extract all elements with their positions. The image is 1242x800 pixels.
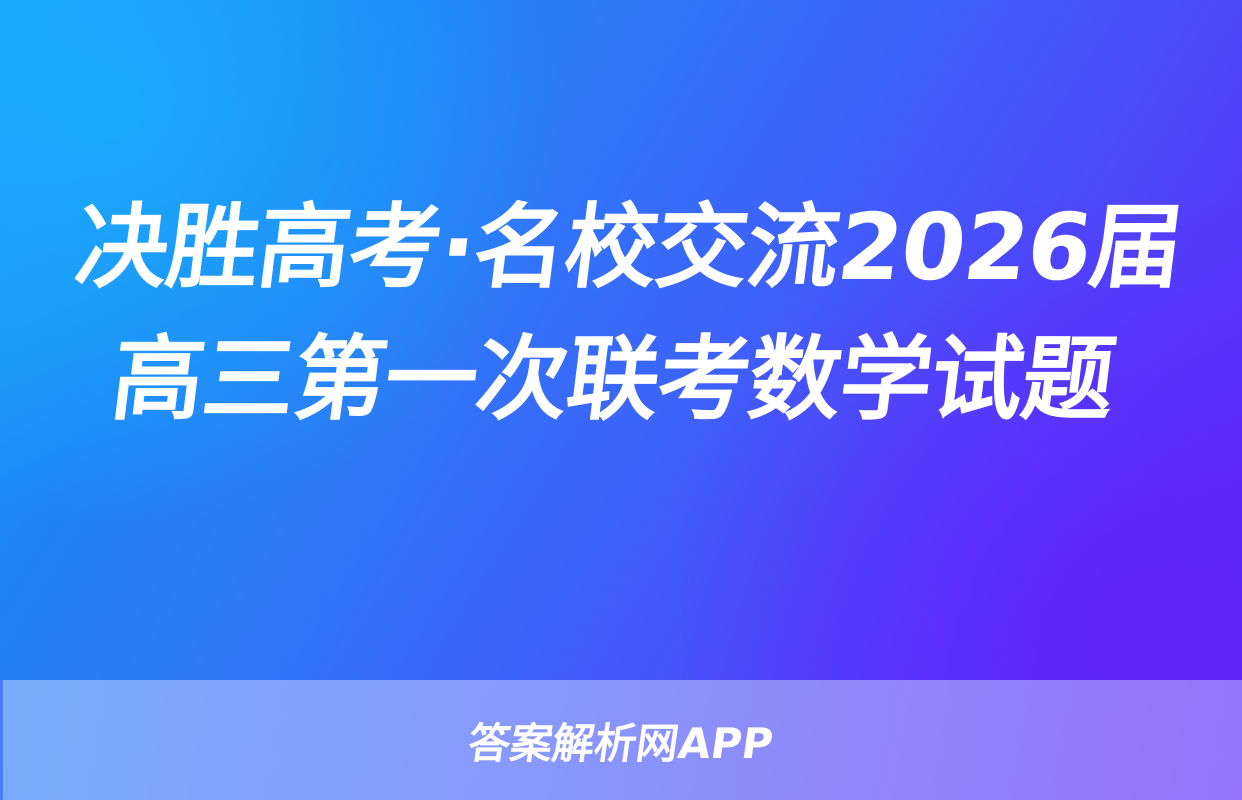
app-watermark-label: 答案解析网APP — [465, 710, 778, 771]
footer-content: 答案解析网APP — [0, 680, 1242, 800]
page-title-text: 决胜高考·名校交流2026届高三第一次联考数学试题 — [18, 182, 1224, 446]
hero-gradient-background: 决胜高考·名校交流2026届高三第一次联考数学试题 — [0, 0, 1242, 680]
title-card: 决胜高考·名校交流2026届高三第一次联考数学试题 答案解析网APP — [0, 0, 1242, 800]
watermark-footer-band: 答案解析网APP — [0, 680, 1242, 800]
page-title: 决胜高考·名校交流2026届高三第一次联考数学试题 — [0, 182, 1242, 446]
